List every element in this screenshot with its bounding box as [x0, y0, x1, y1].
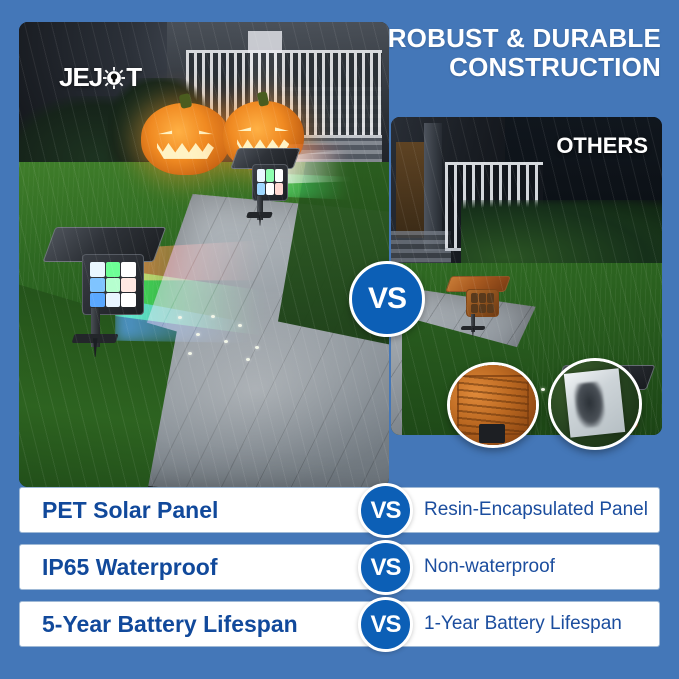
ours-feature-1: PET Solar Panel	[20, 497, 344, 524]
led-array	[90, 262, 136, 306]
led-array	[257, 169, 282, 195]
theirs-feature-1: Resin-Encapsulated Panel	[424, 499, 648, 521]
comparison-row-1: PET Solar Panel VS Resin-Encapsulated Pa…	[19, 487, 660, 533]
solar-spotlight-primary	[49, 227, 160, 343]
brand-logo: JEJ T	[59, 62, 141, 93]
pumpkin-eye-left	[237, 122, 251, 131]
inset-frosted-panel	[548, 358, 642, 450]
jack-o-lantern-left	[141, 103, 230, 175]
brand-product-photo: JEJ T	[19, 22, 389, 487]
pumpkin-eye-right	[199, 125, 214, 134]
ours-feature-2: IP65 Waterproof	[20, 554, 344, 581]
competitor-spotlight-rusty-1	[448, 276, 508, 330]
lamp-head	[82, 254, 144, 314]
row-vs-badge-1: VS	[358, 483, 413, 538]
lamp-head	[252, 164, 287, 200]
inset-rusted-panel	[447, 362, 539, 448]
led-array-unlit	[471, 293, 495, 313]
brand-logo-text-1: JEJ	[59, 62, 102, 93]
pumpkin-eye-left	[157, 125, 172, 134]
center-vs-badge: VS	[349, 261, 425, 337]
theirs-feature-3: 1-Year Battery Lifespan	[424, 613, 622, 635]
pumpkin-eye-right	[275, 122, 289, 131]
sun-bulb-icon	[103, 67, 125, 89]
theirs-feature-2: Non-waterproof	[424, 556, 555, 578]
front-door	[396, 142, 426, 237]
panel-mount-bracket	[479, 424, 505, 443]
page-title: ROBUST & DURABLE CONSTRUCTION	[361, 24, 661, 82]
row-vs-badge-2: VS	[358, 540, 413, 595]
comparison-table: PET Solar Panel VS Resin-Encapsulated Pa…	[19, 487, 660, 658]
row-vs-badge-3: VS	[358, 597, 413, 652]
frosted-panel-surface	[564, 369, 625, 438]
pumpkin-mouth	[157, 143, 214, 159]
competitor-label: OTHERS	[556, 133, 648, 159]
ours-feature-3: 5-Year Battery Lifespan	[20, 611, 344, 638]
solar-spotlight-secondary	[234, 148, 297, 218]
page-title-line-2: CONSTRUCTION	[361, 53, 661, 82]
comparison-row-2: IP65 Waterproof VS Non-waterproof	[19, 544, 660, 590]
brand-logo-text-2: T	[126, 62, 141, 93]
page-title-line-1: ROBUST & DURABLE	[361, 24, 661, 53]
comparison-row-3: 5-Year Battery Lifespan VS 1-Year Batter…	[19, 601, 660, 647]
